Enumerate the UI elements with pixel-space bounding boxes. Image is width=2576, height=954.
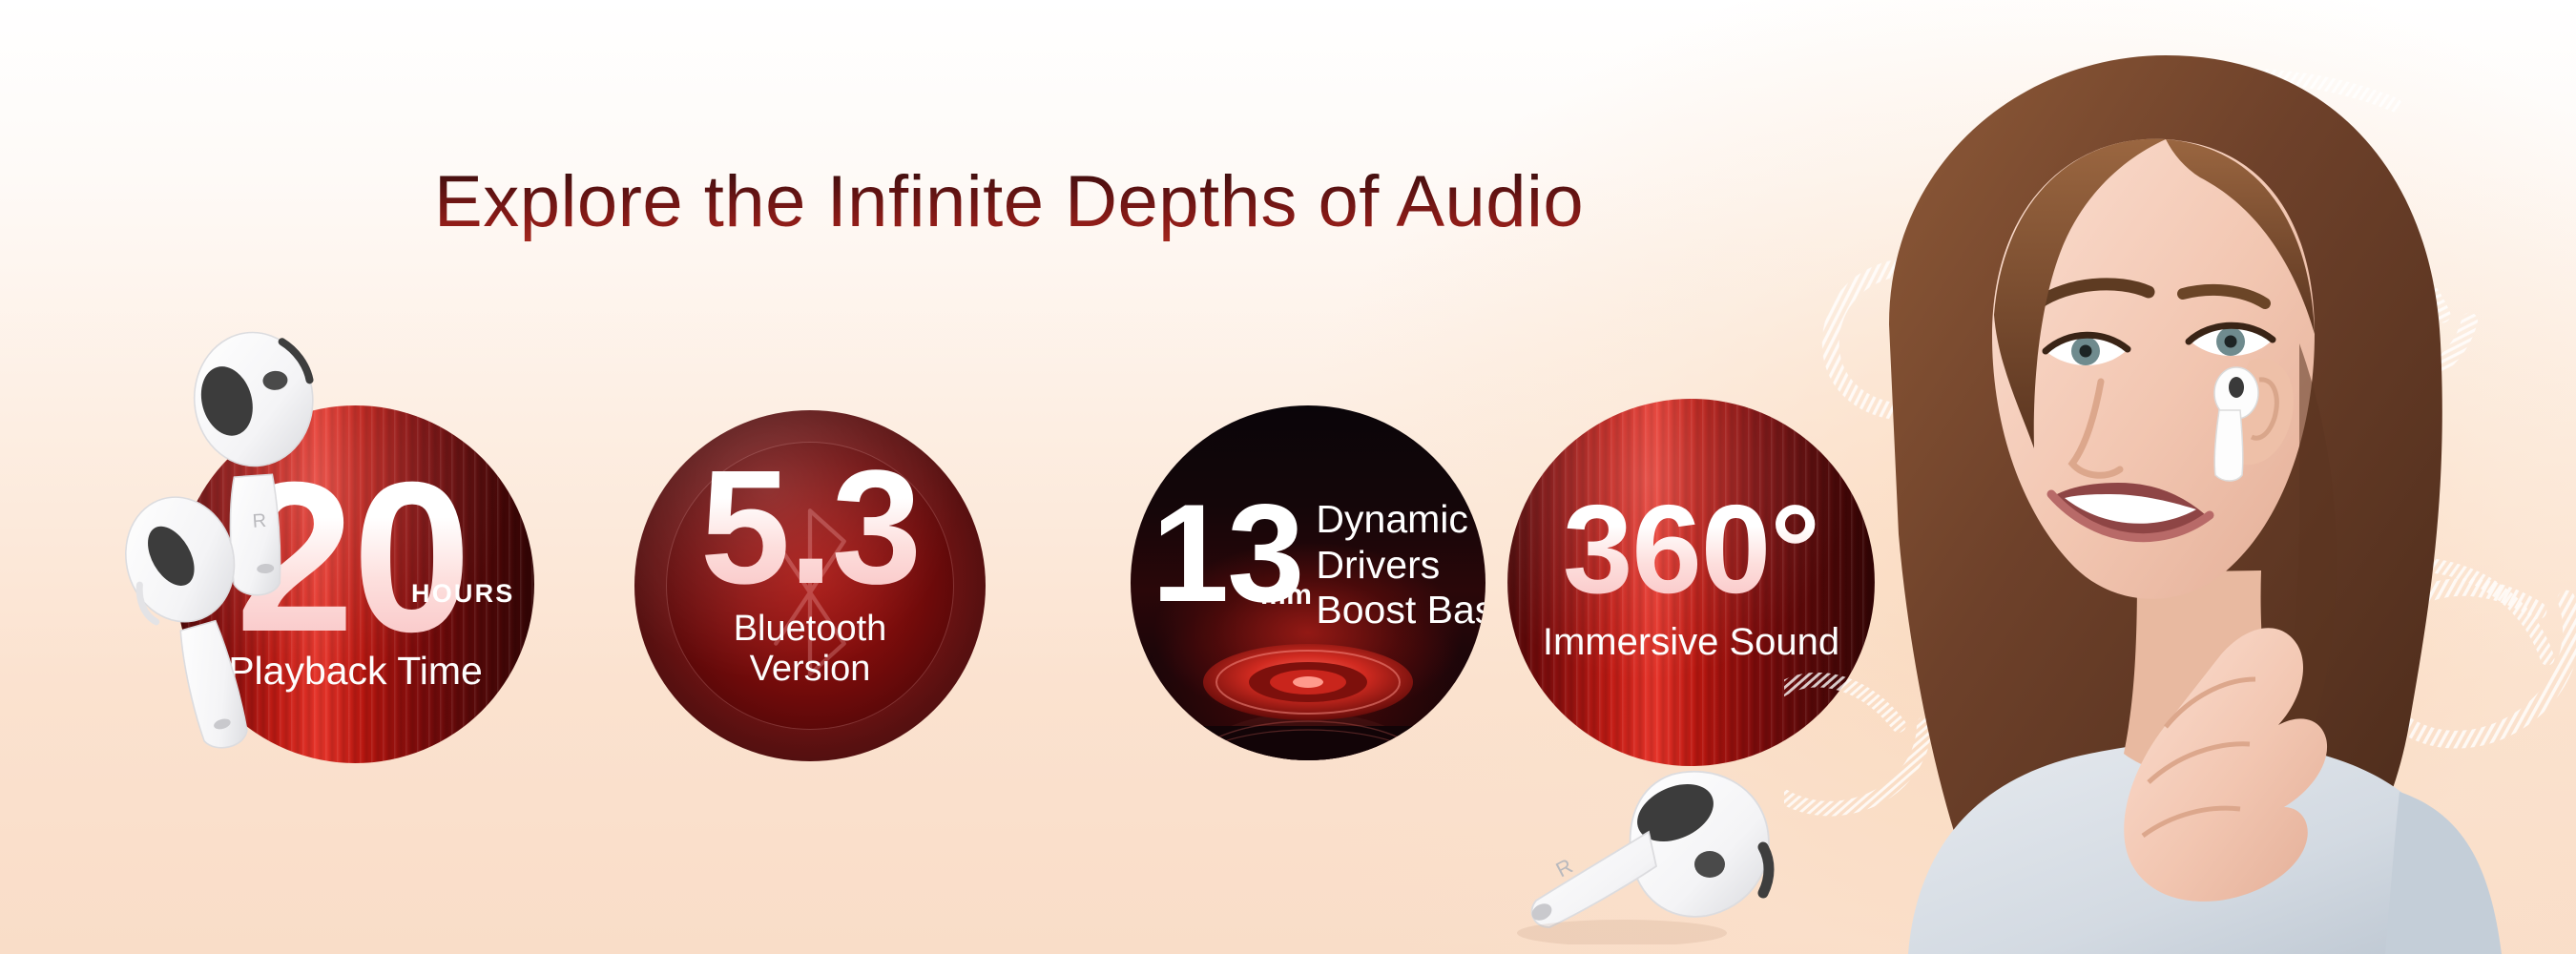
feature-label-bluetooth-line2: Version xyxy=(734,649,887,690)
feature-value-drivers: 13 xyxy=(1152,475,1302,631)
feature-card-immersive-sound[interactable]: 360° Immersive Sound xyxy=(1507,399,1875,766)
feature-card-playback-time[interactable]: 20 HOURS Playback Time xyxy=(177,405,534,763)
feature-value-wrap-drivers: 13 mm xyxy=(1152,489,1302,617)
feature-label-playback: Playback Time xyxy=(228,650,483,694)
feature-label-bluetooth: Bluetooth Version xyxy=(734,609,887,690)
feature-label-drivers-line1: Dynamic xyxy=(1316,497,1485,543)
feature-card-bluetooth[interactable]: 5.3 Bluetooth Version xyxy=(634,410,986,761)
svg-text:R: R xyxy=(1552,854,1577,882)
feature-value-bluetooth: 5.3 xyxy=(700,453,920,602)
speaker-driver-icon xyxy=(1180,612,1436,760)
model-photo xyxy=(1851,0,2576,954)
page-title: Explore the Infinite Depths of Audio xyxy=(434,160,1584,243)
feature-label-bluetooth-line1: Bluetooth xyxy=(734,609,887,650)
feature-value-playback: 20 xyxy=(236,459,469,655)
feature-label-drivers-line3: Boost Bass xyxy=(1316,588,1485,633)
feature-value-immersive: 360° xyxy=(1563,491,1819,607)
feature-card-dynamic-drivers[interactable]: 13 mm Dynamic Drivers Boost Bass xyxy=(1131,405,1485,760)
feature-unit-hours: HOURS xyxy=(411,579,515,609)
feature-label-drivers-line2: Drivers xyxy=(1316,543,1485,589)
feature-label-drivers: Dynamic Drivers Boost Bass xyxy=(1316,497,1485,633)
feature-label-immersive: Immersive Sound xyxy=(1543,621,1839,664)
